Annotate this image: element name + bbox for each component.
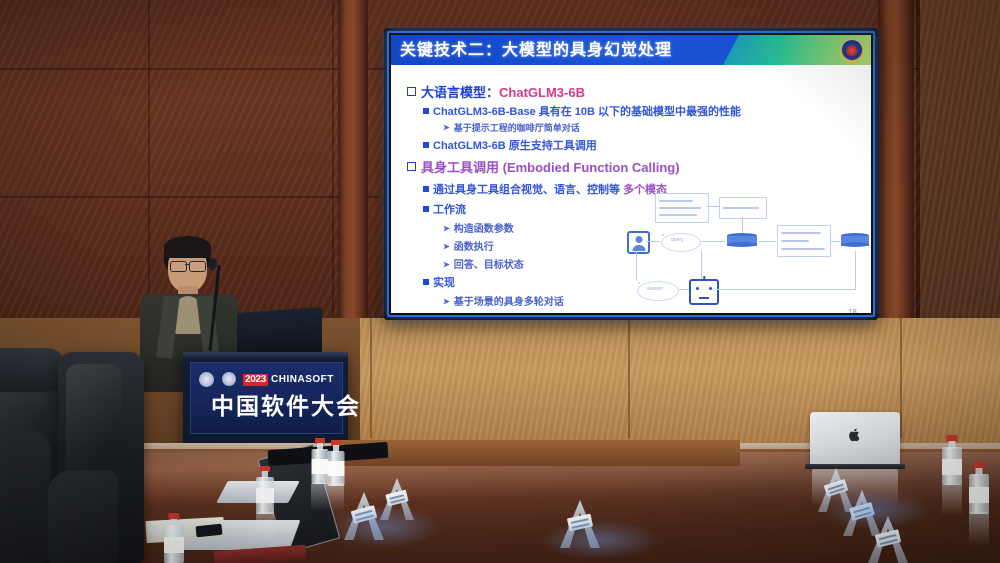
wall-pillar-right: [878, 0, 914, 345]
bullet-line-3: ➤基于提示工程的咖啡厅简单对话: [443, 121, 580, 134]
water-bottle: [326, 440, 345, 486]
function-calling-flow-diagram: query: [627, 193, 871, 313]
bullet-line-11: 实现: [423, 274, 455, 290]
podium-sign: 2023CHINASOFT 中国软件大会: [190, 362, 343, 434]
database-icon-1: [727, 233, 757, 250]
brand-english: CHINASOFT: [271, 374, 334, 385]
square-solid-icon: [423, 142, 429, 148]
connector: [855, 251, 856, 289]
arrow-bullet-icon: ➤: [443, 123, 450, 132]
square-solid-icon: [423, 206, 429, 212]
name-card-holder: [560, 500, 600, 548]
wall-pillar-left: [338, 0, 368, 345]
wall-seam-vertical: [148, 0, 150, 340]
csia-emblem: [199, 372, 214, 387]
university-emblem-logo: [840, 39, 864, 63]
glasses-left-lens: [170, 261, 187, 272]
bullet-line-2: ChatGLM3-6B-Base 具有在 10B 以下的基础模型中最强的性能: [423, 103, 741, 119]
connector: [707, 206, 719, 207]
wall-seam: [628, 318, 630, 438]
database-icon-2: [841, 233, 869, 250]
slide-title: 关键技术二：大模型的具身幻觉处理: [400, 38, 672, 63]
wall-right-panel: [920, 0, 1000, 340]
connector: [701, 251, 702, 279]
speaker-hair-top: [164, 236, 211, 258]
microphone-head: [208, 258, 217, 270]
slide-canvas: 关键技术二：大模型的具身幻觉处理 大语言模型：ChatGLM3-6B ChatG…: [391, 35, 871, 313]
bullet-line-8: ➤构造函数参数: [443, 220, 514, 235]
water-bottle: [163, 513, 185, 563]
bullet-line-1: 大语言模型：ChatGLM3-6B: [407, 82, 585, 101]
square-solid-icon: [423, 108, 429, 114]
square-hollow-icon: [407, 162, 416, 171]
arrow-bullet-icon: ➤: [443, 260, 450, 269]
bullet-line-10: ➤回答、目标状态: [443, 256, 524, 271]
jacket-on-chair: [0, 430, 50, 563]
jacket-draped: [48, 470, 118, 563]
name-card-holder: [868, 516, 908, 563]
podium-top-edge: [183, 352, 348, 359]
function-call-box: [777, 225, 831, 257]
emblem-core: [846, 45, 857, 56]
connector: [759, 241, 776, 242]
arrow-bullet-icon: ➤: [443, 297, 450, 306]
connector: [830, 241, 840, 242]
bullet-line-4: ChatGLM3-6B 原生支持工具调用: [423, 137, 597, 153]
apple-logo: [849, 427, 862, 442]
bottle-reflection: [969, 512, 989, 546]
bullet-line-13: ➤基于顾客指令的目标状态生成: [443, 311, 584, 313]
square-hollow-icon: [407, 87, 416, 96]
arrow-bullet-icon: ➤: [443, 224, 450, 233]
podium: 2023CHINASOFT 中国软件大会: [183, 352, 348, 448]
ccf-emblem: [222, 372, 236, 386]
glasses-right-lens: [189, 261, 206, 272]
water-bottle: [968, 462, 990, 514]
square-solid-icon: [423, 186, 429, 192]
bottle-reflection: [311, 483, 344, 511]
arrow-bullet-icon: ➤: [443, 242, 450, 251]
square-solid-icon: [423, 279, 429, 285]
water-bottle: [941, 435, 963, 485]
wall-seam: [370, 318, 372, 438]
glasses-bridge: [185, 264, 189, 265]
table-back-ledge: [340, 440, 740, 466]
water-bottle: [255, 466, 275, 514]
query-cloud-label: query: [671, 237, 684, 243]
brand-chinese: 中国软件大会: [211, 392, 361, 420]
tool-description-box: [655, 193, 709, 223]
connector: [701, 241, 725, 242]
name-card-holder: [344, 492, 384, 540]
connector: [679, 289, 689, 290]
answer-cloud-label: answer: [647, 286, 663, 292]
wall-seam: [0, 196, 380, 198]
robot-icon: [689, 279, 719, 305]
bullet-line-9: ➤函数执行: [443, 238, 494, 253]
office-chair-left-headrest: [0, 348, 64, 392]
wall-seam-vertical: [332, 0, 334, 340]
tool-register-box: [719, 197, 767, 219]
connector: [716, 289, 856, 290]
bullet-line-12: ➤基于场景的具身多轮对话: [443, 293, 564, 308]
person-icon: [627, 231, 650, 254]
bottle-reflection: [942, 484, 962, 516]
macbook-laptop: [810, 412, 900, 466]
podium-sign-row-english: 2023CHINASOFT: [243, 374, 334, 386]
wall-seam: [900, 318, 902, 438]
presentation-display: 关键技术二：大模型的具身幻觉处理 大语言模型：ChatGLM3-6B ChatG…: [384, 28, 878, 320]
name-card-holder: [380, 478, 414, 520]
slide-page-number: 18: [848, 308, 857, 313]
bottle-reflection: [256, 512, 274, 542]
connector: [647, 241, 660, 242]
conference-room-scene: 关键技术二：大模型的具身幻觉处理 大语言模型：ChatGLM3-6B ChatG…: [0, 0, 1000, 563]
connector: [636, 251, 637, 281]
bullet-line-7: 工作流: [423, 201, 466, 217]
bullet-line-5: 具身工具调用 (Embodied Function Calling): [407, 157, 680, 176]
year-badge: 2023: [243, 374, 268, 386]
